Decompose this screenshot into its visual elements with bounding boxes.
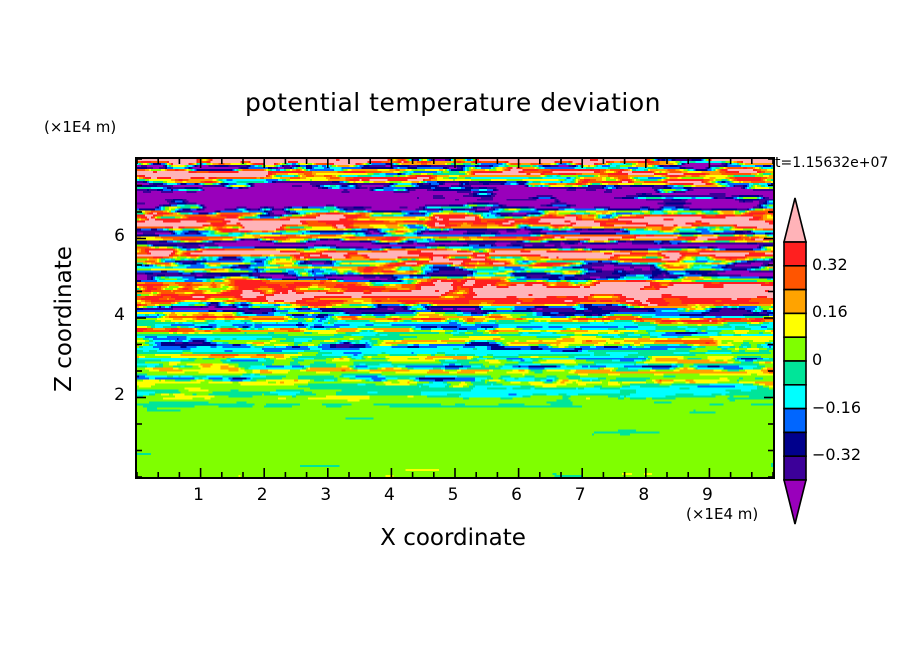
y-axis-title: Z coordinate	[51, 219, 77, 419]
x-tick-label: 9	[692, 485, 722, 505]
x-tick-label: 4	[374, 485, 404, 505]
x-axis-title: X coordinate	[135, 525, 771, 551]
colorbar-tick-label: −0.32	[812, 445, 861, 464]
colorbar-tick-label: 0.32	[812, 255, 848, 274]
colorbar-tick-label: −0.16	[812, 398, 861, 417]
page-title: potential temperature deviation	[135, 88, 771, 117]
x-tick-label: 6	[502, 485, 532, 505]
y-tick-label: 2	[95, 385, 125, 405]
colorbar[interactable]	[778, 196, 812, 526]
axis-ticks	[135, 157, 775, 479]
x-tick-label: 1	[184, 485, 214, 505]
y-axis-unit-label: (×1E4 m)	[44, 118, 116, 136]
contour-figure: potential temperature deviation (×1E4 m)…	[0, 0, 904, 654]
x-tick-label: 2	[247, 485, 277, 505]
x-axis-unit-label: (×1E4 m)	[686, 505, 758, 523]
x-tick-label: 3	[311, 485, 341, 505]
x-tick-label: 7	[565, 485, 595, 505]
y-tick-label: 4	[95, 305, 125, 325]
x-tick-label: 5	[438, 485, 468, 505]
y-tick-label: 6	[95, 226, 125, 246]
time-annotation: t=1.15632e+07	[775, 155, 888, 171]
colorbar-tick-label: 0	[812, 350, 822, 369]
x-tick-label: 8	[629, 485, 659, 505]
colorbar-tick-label: 0.16	[812, 302, 848, 321]
